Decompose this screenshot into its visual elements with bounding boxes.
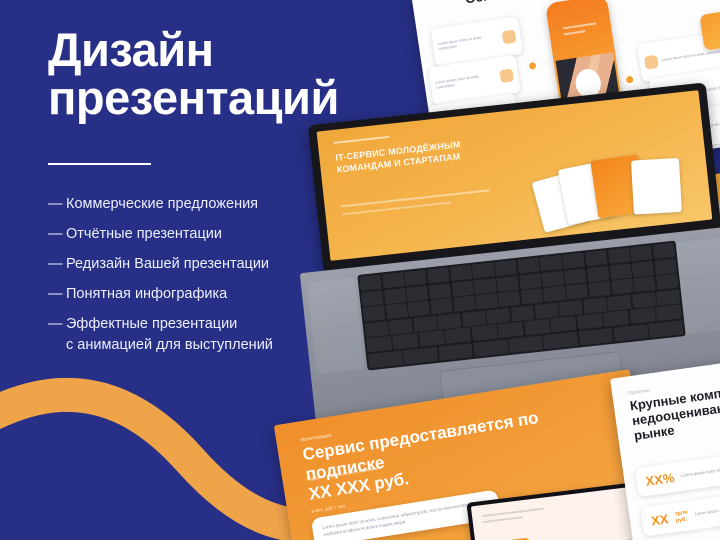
list-marker: —: [48, 224, 66, 245]
keyboard-key[interactable]: [462, 310, 486, 326]
keyboard-key[interactable]: [406, 285, 428, 301]
list-item: —Понятная инфографика: [48, 284, 378, 305]
keyboard-key[interactable]: [542, 270, 564, 286]
keyboard-key[interactable]: [559, 300, 583, 316]
keyboard-key[interactable]: [578, 328, 613, 346]
keyboard-key[interactable]: [389, 318, 413, 334]
keyboard-key[interactable]: [419, 330, 445, 347]
keyboard-key[interactable]: [656, 274, 678, 290]
keyboard-key[interactable]: [653, 243, 675, 259]
page-title-line-1: Дизайн: [48, 23, 214, 76]
keyboard-key[interactable]: [564, 268, 586, 284]
keyboard-key[interactable]: [543, 286, 565, 302]
card-icon: [644, 54, 659, 69]
keyboard-key[interactable]: [408, 301, 430, 317]
keyboard-key[interactable]: [521, 288, 543, 304]
stat-unit: трлн руб.: [674, 510, 688, 524]
list-marker: —: [48, 254, 66, 275]
keyboard-key[interactable]: [450, 265, 472, 281]
stat-value: XX: [650, 511, 669, 528]
list-item-label: Редизайн Вашей презентации: [66, 254, 269, 275]
keyboard-key[interactable]: [438, 343, 473, 361]
connector-node: [626, 76, 634, 84]
list-item: —Коммерческие предложения: [48, 194, 378, 215]
stat-value: XX%: [645, 470, 676, 489]
card-icon: [502, 29, 517, 44]
list-marker: —: [48, 194, 66, 215]
list-item-label: Коммерческие предложения: [66, 194, 258, 215]
stat-row: XX% Lorem ipsum dolor sit amet, consecte…: [635, 441, 720, 498]
page-title-line-2: презентаций: [48, 74, 408, 122]
keyboard-key[interactable]: [543, 332, 578, 350]
keyboard-key[interactable]: [476, 293, 498, 309]
keyboard-key[interactable]: [630, 245, 652, 261]
keyboard-key[interactable]: [393, 333, 419, 350]
keyboard-key[interactable]: [510, 305, 534, 321]
slide-subscription-price-note: в мес. руб. / чел.: [311, 503, 346, 513]
stat-description: Lorem ipsum dolor sit amet, consectetur: [694, 502, 720, 518]
stat-description: Lorem ipsum dolor sit amet, consectetur: [681, 463, 720, 479]
keyboard-key[interactable]: [583, 297, 607, 313]
keyboard-key[interactable]: [472, 262, 494, 278]
keyboard-key[interactable]: [540, 255, 562, 271]
slide-companies-title: Крупные компании массово недооценивают с…: [629, 369, 720, 443]
keyboard-key[interactable]: [498, 291, 520, 307]
keyboard-key[interactable]: [585, 250, 607, 266]
slide-companies-kicker: Проблема: [628, 388, 650, 396]
list-item: —Эффектные презентации с анимацией для в…: [48, 314, 378, 355]
keyboard-key[interactable]: [611, 279, 633, 295]
list-item-label: Отчётные презентации: [66, 224, 222, 245]
keyboard-key[interactable]: [632, 261, 654, 277]
card-icon: [499, 68, 514, 83]
keyboard-key[interactable]: [473, 339, 508, 357]
keyboard-key[interactable]: [550, 316, 576, 333]
page-title: Дизайн презентаций: [48, 26, 408, 122]
keyboard-key[interactable]: [632, 292, 656, 308]
keyboard-key[interactable]: [587, 266, 609, 282]
service-list: —Коммерческие предложения—Отчётные презе…: [48, 194, 378, 365]
keyboard-key[interactable]: [498, 322, 524, 339]
poster-canvas: Основные преимущества сервиса Lorem ipsu…: [0, 0, 720, 540]
keyboard-key[interactable]: [562, 253, 584, 269]
keyboard-key[interactable]: [495, 260, 517, 276]
keyboard-key[interactable]: [474, 278, 496, 294]
keyboard-key[interactable]: [437, 313, 461, 329]
keyboard-key[interactable]: [656, 305, 682, 322]
title-divider: [48, 163, 151, 165]
keyboard-key[interactable]: [588, 281, 610, 297]
keyboard-key[interactable]: [535, 302, 559, 318]
keyboard-key[interactable]: [656, 289, 680, 305]
keyboard-key[interactable]: [413, 316, 437, 332]
keyboard-key[interactable]: [577, 313, 603, 330]
connector-node: [529, 62, 537, 70]
keyboard-key[interactable]: [633, 276, 655, 292]
keyboard-key[interactable]: [566, 284, 588, 300]
keyboard-key[interactable]: [453, 296, 475, 312]
keyboard-key[interactable]: [427, 267, 449, 283]
list-item-label: Эффектные презентации с анимацией для вы…: [66, 314, 273, 355]
keyboard-key[interactable]: [451, 280, 473, 296]
list-marker: —: [48, 314, 66, 335]
list-marker: —: [48, 284, 66, 305]
laptop-screen-documents: [533, 146, 690, 232]
keyboard-key[interactable]: [508, 336, 543, 354]
keyboard-key[interactable]: [405, 270, 427, 286]
keyboard-key[interactable]: [430, 298, 452, 314]
keyboard-key[interactable]: [654, 258, 676, 274]
keyboard-key[interactable]: [429, 283, 451, 299]
keyboard-key[interactable]: [629, 308, 655, 325]
keyboard-key[interactable]: [384, 288, 406, 304]
keyboard-key[interactable]: [607, 295, 631, 311]
keyboard-key[interactable]: [445, 328, 471, 345]
keyboard-key[interactable]: [486, 308, 510, 324]
keyboard-key[interactable]: [613, 324, 648, 342]
keyboard-key[interactable]: [496, 275, 518, 291]
keyboard-key[interactable]: [517, 257, 539, 273]
keyboard-key[interactable]: [608, 248, 630, 264]
keyboard-key[interactable]: [603, 310, 629, 327]
keyboard-key[interactable]: [471, 325, 497, 342]
keyboard-key[interactable]: [385, 303, 407, 319]
keyboard-key[interactable]: [382, 272, 404, 288]
list-item: —Отчётные презентации: [48, 224, 378, 245]
keyboard-key[interactable]: [524, 319, 550, 336]
keyboard-key[interactable]: [609, 263, 631, 279]
keyboard-key[interactable]: [519, 273, 541, 289]
list-item-label: Понятная инфографика: [66, 284, 227, 305]
keyboard-key[interactable]: [403, 347, 438, 365]
keyboard-key[interactable]: [649, 320, 684, 338]
list-item: —Редизайн Вашей презентации: [48, 254, 378, 275]
